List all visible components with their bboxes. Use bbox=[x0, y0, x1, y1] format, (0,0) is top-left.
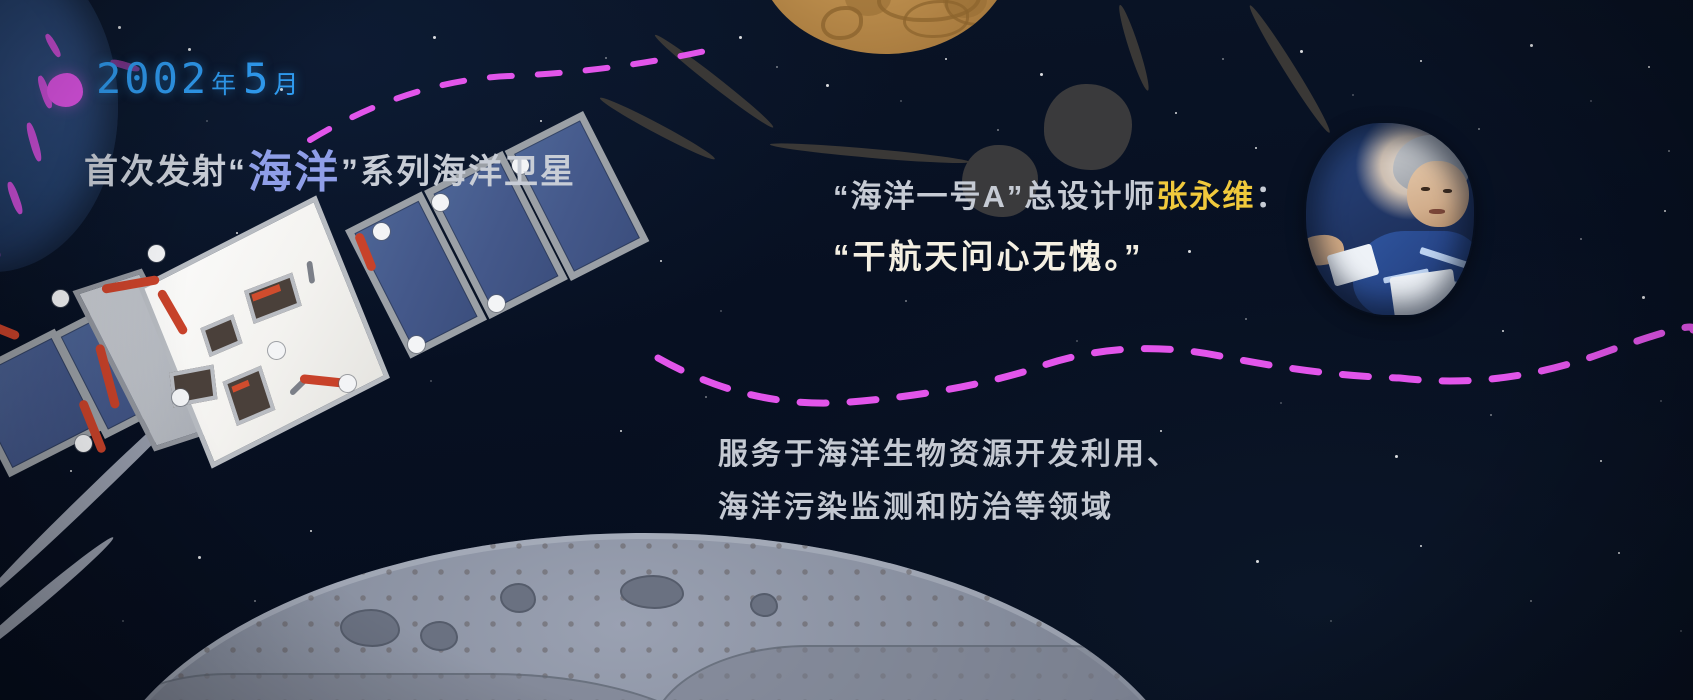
instrument-payload-c bbox=[223, 366, 276, 426]
date-year: 2002 bbox=[96, 54, 209, 103]
portrait-face bbox=[1407, 161, 1469, 227]
joint-node-7 bbox=[148, 245, 165, 262]
cable-left-5 bbox=[0, 306, 21, 341]
headline-suffix: ”系列海洋卫星 bbox=[341, 153, 576, 191]
instrument-payload-b bbox=[200, 314, 242, 357]
asteroid-upper-right bbox=[1044, 84, 1132, 170]
joint-node-11 bbox=[172, 389, 189, 406]
illustration-canvas: 2002年5月 首次发射“海洋”系列海洋卫星 “海洋一号A”总设计师张永维： “… bbox=[0, 0, 1693, 700]
description-line-1: 服务于海洋生物资源开发利用、 bbox=[718, 428, 1180, 481]
headline-highlight: 海洋 bbox=[247, 148, 341, 197]
date-label: 2002年5月 bbox=[96, 54, 305, 103]
date-year-unit: 年 bbox=[211, 71, 239, 99]
magenta-blob bbox=[47, 73, 83, 107]
description-line-2: 海洋污染监测和防治等领域 bbox=[718, 481, 1180, 534]
trajectory-path-upper bbox=[300, 40, 720, 150]
date-month: 5 bbox=[243, 54, 271, 103]
joint-node-10 bbox=[75, 435, 92, 452]
joint-node-4 bbox=[488, 295, 505, 312]
headline: 首次发射“海洋”系列海洋卫星 bbox=[84, 136, 576, 200]
quote-block: “海洋一号A”总设计师张永维： “干航天问心无愧。” bbox=[833, 180, 1288, 278]
portrait-shape bbox=[1306, 123, 1474, 315]
joint-node-8 bbox=[52, 290, 69, 307]
portrait-zhang-yongwei bbox=[1306, 123, 1474, 315]
quote-person-name: 张永维 bbox=[1156, 179, 1255, 214]
description-block: 服务于海洋生物资源开发利用、 海洋污染监测和防治等领域 bbox=[718, 428, 1180, 534]
quote-attribution: “海洋一号A”总设计师张永维： bbox=[833, 180, 1288, 214]
joint-node-5 bbox=[408, 336, 425, 353]
quote-attrib-prefix: “海洋一号A”总设计师 bbox=[833, 179, 1156, 214]
date-month-unit: 月 bbox=[273, 71, 301, 99]
trajectory-path bbox=[600, 260, 1693, 440]
joint-node-1 bbox=[373, 223, 390, 240]
quote-colon: ： bbox=[1255, 179, 1288, 214]
antenna-stub-1 bbox=[306, 260, 315, 284]
headline-prefix: 首次发射“ bbox=[84, 153, 247, 191]
portrait-desk-paper bbox=[1389, 269, 1458, 315]
joint-node-6 bbox=[339, 375, 356, 392]
moon-bottom bbox=[90, 533, 1200, 700]
joint-node-12 bbox=[268, 342, 285, 359]
quote-text: “干航天问心无愧。” bbox=[833, 230, 1288, 278]
instrument-payload-a bbox=[244, 273, 302, 325]
